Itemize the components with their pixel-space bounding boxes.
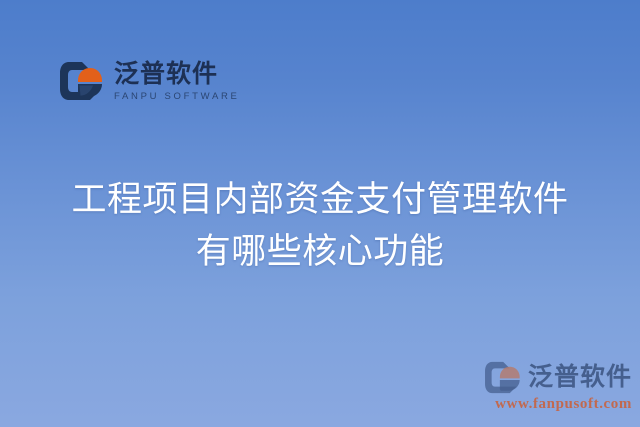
watermark-brand: 泛普软件 <box>485 361 632 394</box>
header-brand-wordmark: 泛普软件 FANPU SOFTWARE <box>114 58 240 104</box>
promo-banner: 泛普软件 FANPU SOFTWARE 工程项目内部资金支付管理软件 有哪些核心… <box>0 0 640 427</box>
watermark: 泛普软件 www.fanpusoft.com <box>485 361 632 413</box>
brand-name-en: FANPU SOFTWARE <box>114 90 240 104</box>
brand-name-cn: 泛普软件 <box>114 60 240 87</box>
watermark-url: www.fanpusoft.com <box>485 396 632 413</box>
watermark-brand-name: 泛普软件 <box>528 364 632 390</box>
page-title-line-1: 工程项目内部资金支付管理软件 <box>0 174 640 226</box>
page-title: 工程项目内部资金支付管理软件 有哪些核心功能 <box>0 174 640 278</box>
fanpu-logo-mark-icon <box>60 61 106 101</box>
header-brand-logo: 泛普软件 FANPU SOFTWARE <box>60 58 240 104</box>
fanpu-logo-mark-icon <box>485 361 523 394</box>
page-title-line-2: 有哪些核心功能 <box>0 226 640 278</box>
